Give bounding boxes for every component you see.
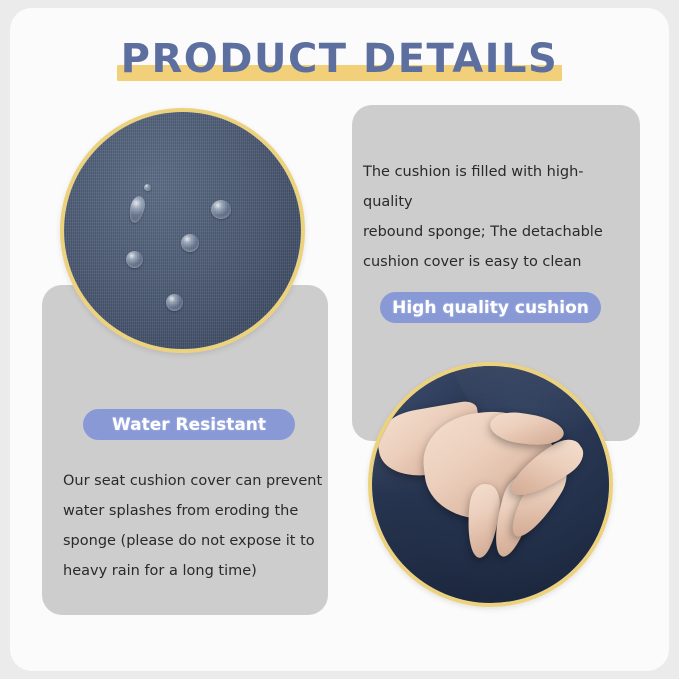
water-droplet <box>126 251 143 268</box>
description-line: heavy rain for a long time) <box>63 556 325 586</box>
description-line: The cushion is filled with high-quality <box>363 157 631 217</box>
water-droplet <box>166 294 183 311</box>
description-line: cushion cover is easy to clean <box>363 247 631 277</box>
description-line: sponge (please do not expose it to <box>63 526 325 556</box>
fabric-texture <box>64 112 301 349</box>
page-title-text: PRODUCT DETAILS <box>121 33 559 85</box>
hand-pressing-cushion-image <box>368 362 613 607</box>
description-line: water splashes from eroding the <box>63 496 325 526</box>
water-resistant-description: Our seat cushion cover can prevent water… <box>63 466 325 586</box>
water-droplet <box>211 200 231 219</box>
high-quality-cushion-description: The cushion is filled with high-quality … <box>363 157 631 277</box>
badge-high-quality-cushion: High quality cushion <box>380 292 601 323</box>
fabric-water-droplets-image <box>60 108 305 353</box>
badge-label: High quality cushion <box>392 298 589 318</box>
description-line: Our seat cushion cover can prevent <box>63 466 325 496</box>
water-droplet <box>144 184 151 191</box>
badge-water-resistant: Water Resistant <box>83 409 295 440</box>
badge-label: Water Resistant <box>112 415 266 435</box>
water-droplet <box>181 234 199 252</box>
page-title: PRODUCT DETAILS <box>0 28 679 90</box>
description-line: rebound sponge; The detachable <box>363 217 631 247</box>
